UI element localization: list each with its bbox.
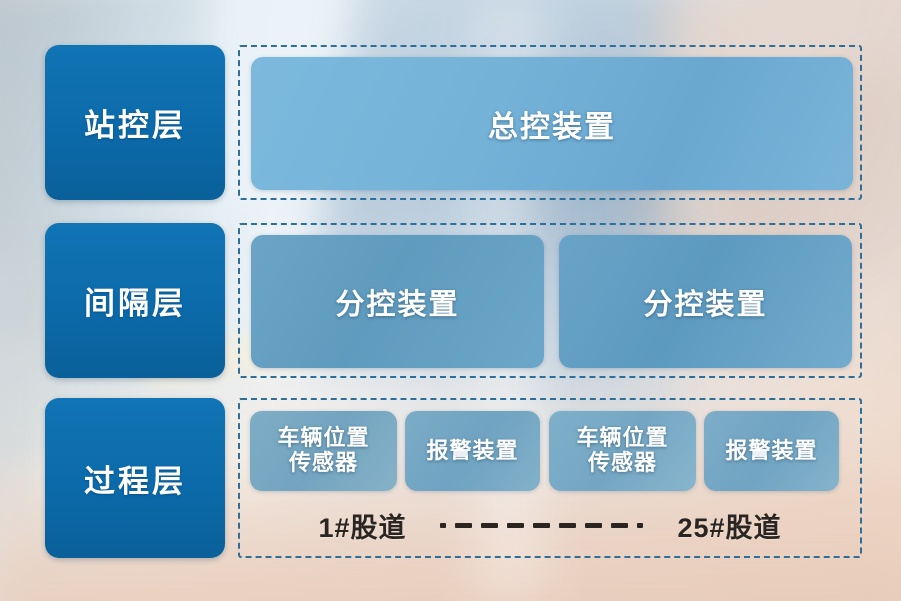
layer-tile-label: 间隔层 <box>84 278 186 323</box>
device-label: 车辆位置 传感器 <box>277 426 369 475</box>
track-label-first: 1#股道 <box>318 506 406 545</box>
layer-group-process-level: 车辆位置 传感器 报警装置 车辆位置 传感器 报警装置 1#股道 25#股道 <box>238 398 862 558</box>
device-label-line2: 传感器 <box>289 450 358 475</box>
device-label: 报警装置 <box>725 439 817 464</box>
device-box-sub-control-1[interactable]: 分控装置 <box>251 235 544 368</box>
device-box-alarm-device-1[interactable]: 报警装置 <box>405 411 540 491</box>
track-ellipsis-dash <box>481 523 498 528</box>
device-label-line1: 车辆位置 <box>576 425 668 450</box>
track-ellipsis-dash <box>455 523 472 528</box>
track-label-last: 25#股道 <box>677 506 781 545</box>
device-label: 报警装置 <box>426 439 518 464</box>
track-ellipsis-dash <box>637 523 643 528</box>
layer-tile-label: 过程层 <box>84 456 186 501</box>
device-box-vehicle-position-sensor-2[interactable]: 车辆位置 传感器 <box>549 411 696 491</box>
track-ellipsis-dash <box>533 523 550 528</box>
device-label-line1: 车辆位置 <box>277 425 369 450</box>
device-label: 分控装置 <box>335 281 459 323</box>
layer-group-station-control: 总控装置 <box>238 45 862 200</box>
track-ellipsis-dash <box>507 523 524 528</box>
diagram-canvas: 站控层 间隔层 过程层 总控装置 分控装置 分控装置 车辆位置 传感器 报警装置 <box>0 0 901 601</box>
track-label-row: 1#股道 25#股道 <box>250 500 850 550</box>
track-ellipsis-dash <box>585 523 602 528</box>
device-box-vehicle-position-sensor-1[interactable]: 车辆位置 传感器 <box>250 411 397 491</box>
device-box-master-control[interactable]: 总控装置 <box>251 57 853 190</box>
device-label: 总控装置 <box>488 102 616 146</box>
layer-tile-station-control[interactable]: 站控层 <box>45 45 225 200</box>
device-label-line2: 传感器 <box>588 450 657 475</box>
track-ellipsis-dash <box>440 523 446 528</box>
layer-tile-label: 站控层 <box>84 100 186 145</box>
layer-group-bay-level: 分控装置 分控装置 <box>238 223 862 378</box>
device-box-sub-control-2[interactable]: 分控装置 <box>559 235 852 368</box>
device-box-alarm-device-2[interactable]: 报警装置 <box>704 411 839 491</box>
track-ellipsis-dash <box>559 523 576 528</box>
track-ellipsis-icon <box>440 523 643 528</box>
track-ellipsis-dash <box>611 523 628 528</box>
device-label: 车辆位置 传感器 <box>576 426 668 475</box>
layer-tile-process-level[interactable]: 过程层 <box>45 398 225 558</box>
device-label: 分控装置 <box>643 281 767 323</box>
layer-tile-bay-level[interactable]: 间隔层 <box>45 223 225 378</box>
